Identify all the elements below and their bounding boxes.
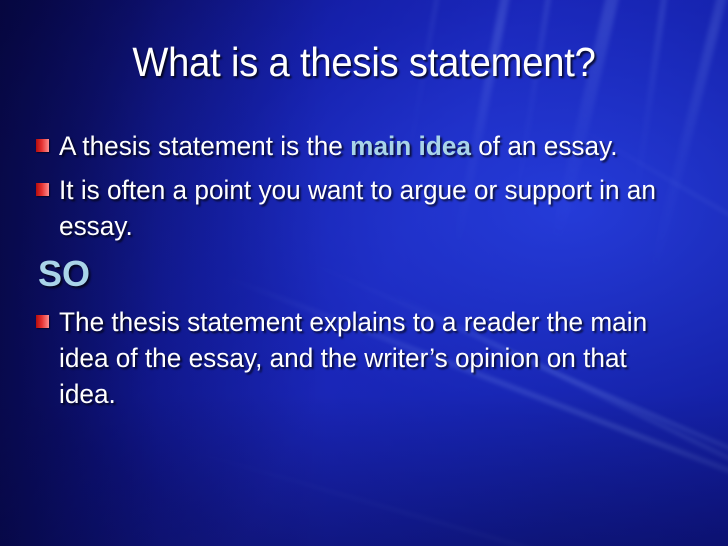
- slide-body: A thesis statement is the main idea of a…: [36, 128, 692, 420]
- bullet-text-after: of an essay.: [471, 131, 618, 161]
- bullet-item-label: The thesis statement explains to a reade…: [59, 304, 673, 412]
- presentation-slide: What is a thesis statement? A thesis sta…: [0, 0, 728, 546]
- bullet-item: A thesis statement is the main idea of a…: [36, 128, 692, 164]
- slide-title: What is a thesis statement?: [25, 38, 702, 86]
- slide-content: What is a thesis statement? A thesis sta…: [0, 0, 728, 546]
- bullet-item: It is often a point you want to argue or…: [36, 172, 692, 244]
- bullet-text-highlight: main idea: [350, 131, 471, 161]
- red-square-bullet-icon: [36, 315, 49, 328]
- section-heading-label: SO: [38, 253, 90, 294]
- red-square-bullet-icon: [36, 139, 49, 152]
- bullet-text-before: A thesis statement is the: [59, 131, 350, 161]
- section-heading: SO: [38, 252, 692, 296]
- red-square-bullet-icon: [36, 183, 49, 196]
- bullet-item: The thesis statement explains to a reade…: [36, 304, 692, 412]
- bullet-item-label: It is often a point you want to argue or…: [59, 172, 673, 244]
- bullet-item-label: A thesis statement is the main idea of a…: [59, 128, 673, 164]
